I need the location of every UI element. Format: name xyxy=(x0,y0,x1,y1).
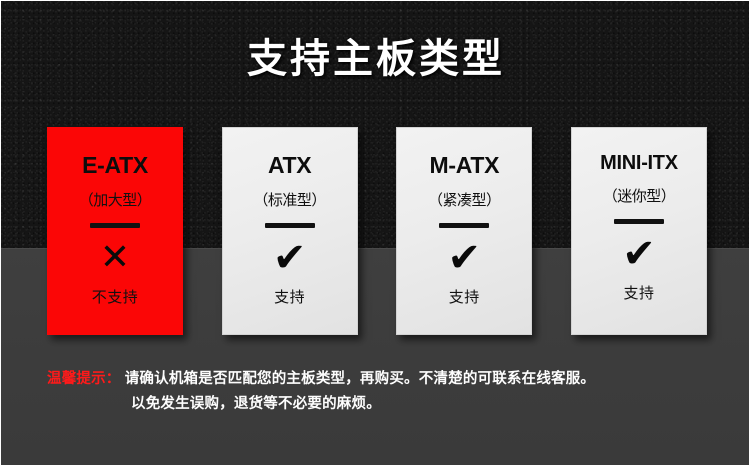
card-subtitle: （紧凑型） xyxy=(428,189,501,210)
card-status: 支持 xyxy=(274,286,305,307)
motherboard-card-e-atx[interactable]: E-ATX （加大型） ✕ 不支持 xyxy=(47,127,183,335)
warning-note-line-1: 请确认机箱是否匹配您的主板类型，再购买。不清楚的可联系在线客服。 xyxy=(125,371,595,387)
card-status: 支持 xyxy=(623,282,654,303)
warning-note: 温馨提示： 请确认机箱是否匹配您的主板类型，再购买。不清楚的可联系在线客服。 以… xyxy=(47,367,717,417)
motherboard-card-list: E-ATX （加大型） ✕ 不支持 ATX （标准型） ✔ 支持 M-ATX （… xyxy=(47,127,707,335)
card-divider xyxy=(90,223,140,228)
check-icon: ✔ xyxy=(273,236,307,280)
card-divider xyxy=(439,223,489,228)
card-subtitle: （加大型） xyxy=(79,189,152,210)
warning-note-line-2: 以免发生误购，退货等不必要的麻烦。 xyxy=(131,392,717,417)
card-status: 不支持 xyxy=(92,286,139,307)
motherboard-card-atx[interactable]: ATX （标准型） ✔ 支持 xyxy=(222,127,358,335)
card-subtitle: （标准型） xyxy=(253,189,326,210)
warning-note-label: 温馨提示： xyxy=(47,371,121,387)
card-status: 支持 xyxy=(449,286,480,307)
card-title: M-ATX xyxy=(430,152,500,179)
card-title: ATX xyxy=(268,152,311,179)
card-title: MINI-ITX xyxy=(600,152,678,175)
card-divider xyxy=(265,223,315,228)
check-icon: ✔ xyxy=(622,232,656,276)
card-subtitle: （迷你型） xyxy=(603,185,676,206)
card-title: E-ATX xyxy=(82,152,148,179)
page-title: 支持主板类型 xyxy=(1,35,750,83)
cross-icon: ✕ xyxy=(100,236,130,280)
motherboard-card-mini-itx[interactable]: MINI-ITX （迷你型） ✔ 支持 xyxy=(571,127,707,335)
motherboard-card-m-atx[interactable]: M-ATX （紧凑型） ✔ 支持 xyxy=(396,127,532,335)
card-divider xyxy=(614,219,664,224)
check-icon: ✔ xyxy=(448,236,482,280)
promo-banner: 支持主板类型 E-ATX （加大型） ✕ 不支持 ATX （标准型） ✔ 支持 … xyxy=(0,0,750,466)
